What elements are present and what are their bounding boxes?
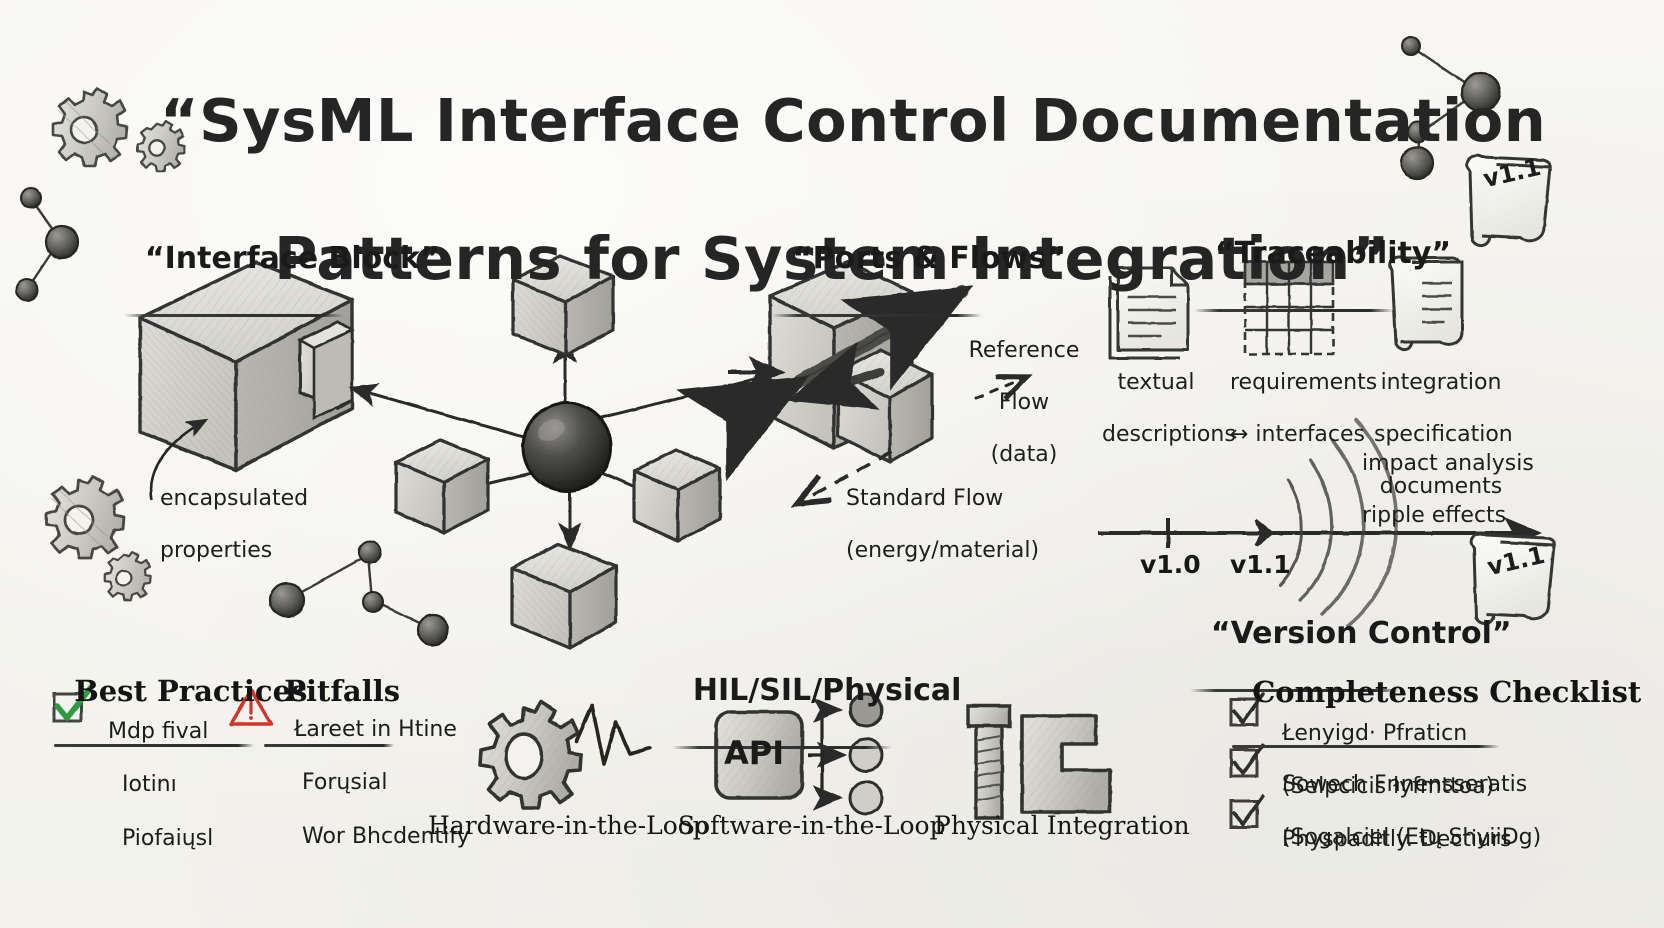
label-impact-analysis: impact analysis ripple effects bbox=[1348, 425, 1578, 529]
version-tick-label-1: v1.1 bbox=[1230, 551, 1291, 579]
section-heading-interface-block: “Interface Block” bbox=[124, 208, 344, 350]
api-box-label: API bbox=[724, 736, 784, 772]
heading-underline bbox=[1194, 309, 1394, 312]
section-heading-ports-flows: “Ports & Flows” bbox=[772, 208, 982, 350]
caption-hardware-in-the-loop: Hardware-in-the-Loop bbox=[428, 812, 656, 840]
traceability-item-label-1: requirements ↔ interfaces bbox=[1216, 344, 1364, 448]
best-practices-item-0: Mdp fival Iotinı Piofaiųsl bbox=[94, 692, 264, 853]
gears-cluster-mid-left bbox=[46, 476, 151, 600]
annotation-encapsulated-properties: encapsulated properties bbox=[146, 460, 376, 564]
caption-software-in-the-loop: Software-in-the-Loop bbox=[678, 812, 902, 840]
diagram-canvas: “SysML Interface Control Documentation P… bbox=[0, 0, 1664, 928]
label-reference-flow: Reference Flow (data) bbox=[952, 312, 1082, 468]
cube-left bbox=[396, 440, 488, 533]
label-standard-flow: Standard Flow (energy/material) bbox=[832, 460, 1102, 564]
cube-bottom bbox=[512, 544, 616, 648]
checklist-checkbox-3-icon bbox=[1231, 796, 1263, 827]
heading-underline bbox=[772, 314, 982, 317]
section-heading-traceability: “Traceability” bbox=[1194, 203, 1394, 345]
title-line-1: “SysML Interface Control Documentation bbox=[160, 86, 1546, 155]
checklist-item-2: Physpaditly. Dectiurs bbox=[1268, 800, 1558, 854]
bolt-bracket-icon bbox=[968, 706, 1110, 818]
cube-right bbox=[634, 450, 720, 541]
traceability-item-label-0: textual descriptions bbox=[1088, 344, 1210, 448]
version-tick-label-0: v1.0 bbox=[1140, 551, 1201, 579]
gear-waveform-icon bbox=[480, 702, 650, 808]
caption-physical-integration: Physical Integration bbox=[934, 812, 1146, 840]
heading-underline bbox=[124, 314, 344, 317]
